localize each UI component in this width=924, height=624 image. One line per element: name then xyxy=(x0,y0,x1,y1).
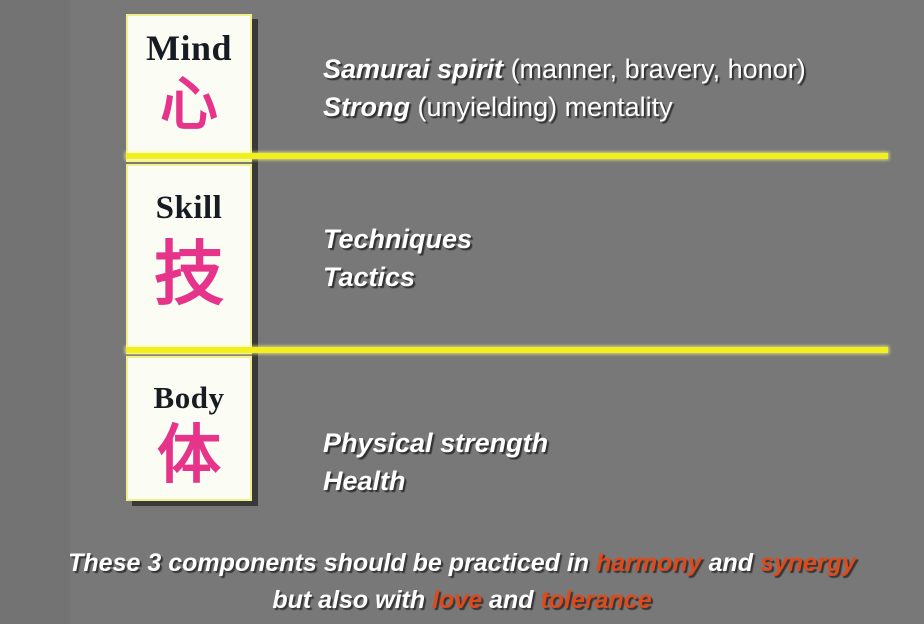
caption-line-2-part-2: and xyxy=(482,586,540,614)
kanji-glyph-mind: 心 xyxy=(128,75,250,133)
kanji-glyph-body: 体 xyxy=(128,424,250,488)
caption-line-2-highlight-tolerance: tolerance xyxy=(540,586,651,614)
cell-label-mind: Mind xyxy=(128,27,250,69)
description-mind-line-2-rest: (unyielding) mentality xyxy=(410,92,673,122)
divider-rule-skill-body xyxy=(126,347,888,353)
background-left-band xyxy=(0,0,70,624)
caption-line-2: but also with love and tolerance xyxy=(0,582,924,619)
kanji-cell-body: Body 体 xyxy=(126,356,252,501)
divider-rule-mind-skill xyxy=(126,153,888,159)
description-mind-line-1-rest: (manner, bravery, honor) xyxy=(503,54,806,84)
caption-line-2-highlight-love: love xyxy=(432,586,482,614)
cell-label-skill: Skill xyxy=(128,190,250,227)
caption-line-1: These 3 components should be practiced i… xyxy=(0,545,924,582)
kanji-glyph-skill: 技 xyxy=(128,239,250,309)
kanji-cell-skill: Skill 技 xyxy=(126,164,252,354)
caption-line-2-part-1: but also with xyxy=(272,586,432,614)
description-mind-line-1-lead: Samurai spirit xyxy=(323,54,503,84)
cell-label-body: Body xyxy=(128,380,250,416)
caption-line-1-highlight-harmony: harmony xyxy=(596,549,702,577)
caption-line-1-part-1: These 3 components should be practiced i… xyxy=(68,549,596,577)
description-body-line-2: Health xyxy=(323,462,548,500)
caption-line-1-highlight-synergy: synergy xyxy=(760,549,856,577)
description-mind-line-1: Samurai spirit (manner, bravery, honor) xyxy=(323,50,806,88)
description-mind-line-2-lead: Strong xyxy=(323,92,410,122)
description-body: Physical strength Health xyxy=(323,424,548,500)
description-skill: Techniques Tactics xyxy=(323,220,472,296)
slide-canvas: Mind 心 Skill 技 Body 体 Samurai spirit (ma… xyxy=(0,0,924,624)
description-mind-line-2: Strong (unyielding) mentality xyxy=(323,88,806,126)
caption-line-1-part-2: and xyxy=(702,549,760,577)
description-skill-line-1: Techniques xyxy=(323,220,472,258)
description-skill-line-2: Tactics xyxy=(323,258,472,296)
description-mind: Samurai spirit (manner, bravery, honor) … xyxy=(323,50,806,126)
kanji-column: Mind 心 Skill 技 Body 体 xyxy=(126,14,252,501)
description-body-line-1: Physical strength xyxy=(323,424,548,462)
kanji-cell-mind: Mind 心 xyxy=(126,14,252,162)
